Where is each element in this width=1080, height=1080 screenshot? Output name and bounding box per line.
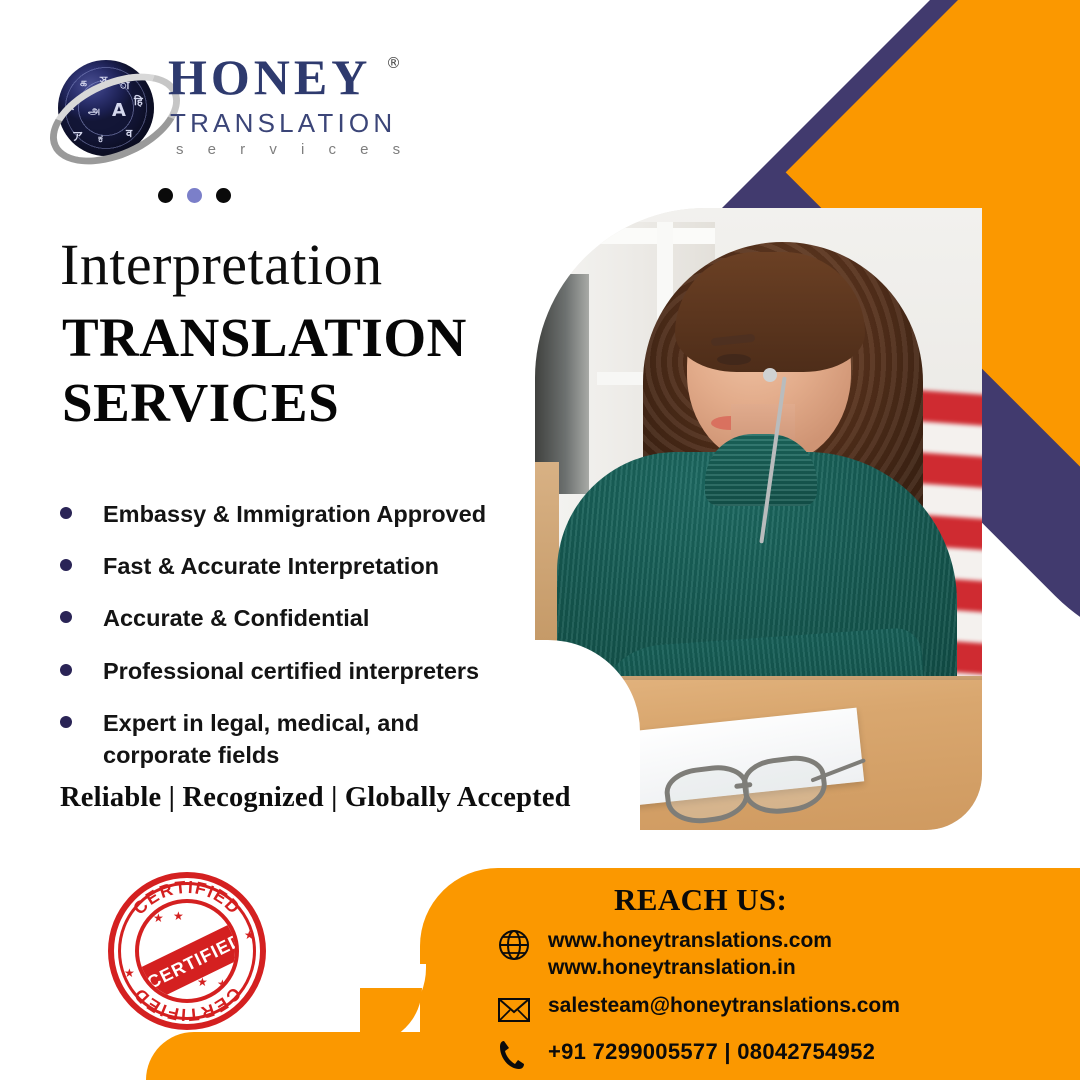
list-item: Embassy & Immigration Approved — [56, 498, 526, 530]
email-address[interactable]: salesteam@honeytranslations.com — [548, 993, 900, 1020]
dot-1 — [158, 188, 173, 203]
headline-bold: TRANSLATION SERVICES — [62, 306, 467, 436]
feature-text: Accurate & Confidential — [103, 602, 369, 634]
registered-mark: ® — [386, 54, 401, 72]
globe-icon — [492, 928, 536, 962]
feature-text: Embassy & Immigration Approved — [103, 498, 486, 530]
star-icon: ★ — [217, 977, 228, 991]
logo-name-tertiary: s e r v i c e s — [176, 141, 410, 158]
contact-heading: REACH US: — [614, 882, 787, 918]
bullet-dot-icon — [60, 716, 72, 728]
poster-canvas: க স ा ଶ அ A हि ア ಕ व HONEY ® TRANSLATION… — [0, 0, 1080, 1080]
phone-icon — [492, 1038, 536, 1072]
feature-list: Embassy & Immigration Approved Fast & Ac… — [56, 498, 526, 791]
contact-details: www.honeytranslations.com www.honeytrans… — [492, 928, 1072, 1080]
brand-logo: க স ा ଶ அ A हि ア ಕ व HONEY ® TRANSLATION… — [52, 46, 412, 176]
bullet-dot-icon — [60, 507, 72, 519]
list-item: Expert in legal, medical, and corporate … — [56, 707, 526, 771]
contact-row-phone[interactable]: +91 7299005577 | 08042754952 — [492, 1038, 1072, 1072]
dot-2 — [187, 188, 202, 203]
star-icon: ★ — [173, 909, 184, 923]
feature-text: Expert in legal, medical, and corporate … — [103, 707, 443, 771]
globe-logo-icon: க স ा ଶ அ A हि ア ಕ व — [52, 54, 160, 162]
star-icon: ★ — [124, 966, 135, 980]
star-icon: ★ — [244, 928, 255, 942]
phone-numbers[interactable]: +91 7299005577 | 08042754952 — [548, 1038, 875, 1066]
dot-3 — [216, 188, 231, 203]
feature-text: Professional certified interpreters — [103, 655, 479, 687]
logo-name-secondary: TRANSLATION — [170, 108, 396, 139]
logo-name-primary: HONEY — [168, 52, 371, 102]
headline-script: Interpretation — [60, 236, 383, 294]
star-icon: ★ — [197, 975, 208, 989]
certified-stamp: CERTIFIED CERTIFIED ★ ★ CERTIFIED ★ ★ ★ … — [108, 872, 266, 1030]
tagline: Reliable | Recognized | Globally Accepte… — [60, 782, 571, 814]
bullet-dot-icon — [60, 664, 72, 676]
headline-line-2: SERVICES — [62, 371, 467, 436]
list-item: Professional certified interpreters — [56, 655, 526, 687]
contact-row-email[interactable]: salesteam@honeytranslations.com — [492, 993, 1072, 1027]
website-2[interactable]: www.honeytranslation.in — [548, 955, 832, 982]
headline-line-1: TRANSLATION — [62, 306, 467, 371]
envelope-icon — [492, 993, 536, 1027]
decorative-dots — [158, 188, 231, 203]
website-1[interactable]: www.honeytranslations.com — [548, 928, 832, 955]
bullet-dot-icon — [60, 559, 72, 571]
bullet-dot-icon — [60, 611, 72, 623]
contact-row-website[interactable]: www.honeytranslations.com www.honeytrans… — [492, 928, 1072, 982]
list-item: Accurate & Confidential — [56, 602, 526, 634]
star-icon: ★ — [153, 911, 164, 925]
feature-text: Fast & Accurate Interpretation — [103, 550, 439, 582]
list-item: Fast & Accurate Interpretation — [56, 550, 526, 582]
website-lines: www.honeytranslations.com www.honeytrans… — [548, 928, 832, 982]
